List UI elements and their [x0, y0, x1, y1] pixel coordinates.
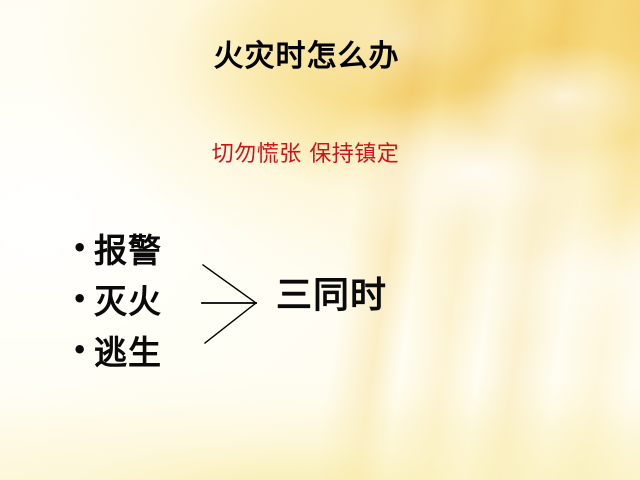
arrow-lower-wing [205, 303, 256, 343]
right-arrow-icon [196, 258, 262, 350]
result-label: 三同时 [276, 276, 387, 316]
slide-subtitle: 切勿慌张 保持镇定 [0, 142, 611, 168]
list-item-label: 报警 [94, 224, 162, 272]
bullet-dot-icon: • [72, 287, 94, 311]
list-item: • 报警 [72, 222, 162, 273]
slide-content: 火灾时怎么办 切勿慌张 保持镇定 • 报警 • 灭火 • 逃生 三同时 [0, 0, 640, 480]
arrow-upper-wing [203, 265, 256, 303]
slide-title: 火灾时怎么办 [0, 40, 613, 75]
bullet-dot-icon: • [72, 236, 94, 260]
list-item-label: 灭火 [94, 275, 162, 323]
right-arrow-graphic [196, 258, 262, 350]
list-item: • 灭火 [72, 273, 162, 324]
list-item-label: 逃生 [94, 326, 162, 374]
list-item: • 逃生 [72, 324, 162, 375]
bullet-list: • 报警 • 灭火 • 逃生 [72, 222, 162, 375]
bullet-dot-icon: • [72, 338, 94, 362]
slide-canvas: 火灾时怎么办 切勿慌张 保持镇定 • 报警 • 灭火 • 逃生 三同时 [0, 0, 640, 480]
